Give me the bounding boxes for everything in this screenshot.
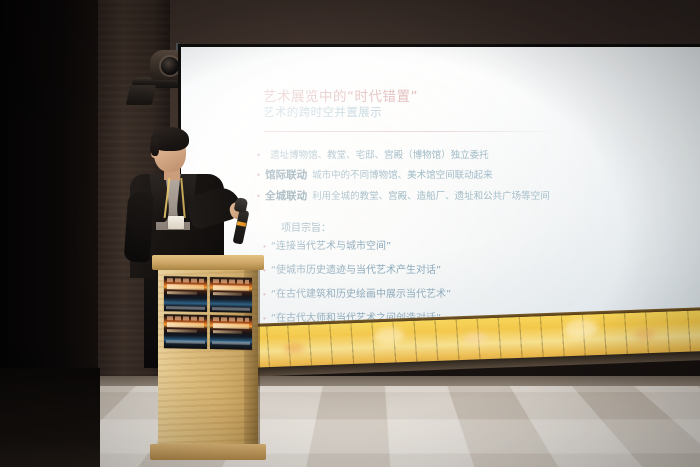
poster-title-line [167, 322, 204, 328]
list-item: • 馆际联动 城市中的不同博物馆、美术馆空间联动起来 [257, 167, 687, 182]
poster-subtitle-line [213, 330, 243, 334]
dark-left-void [0, 0, 100, 380]
poster-header-line [167, 316, 204, 321]
bullet-text-2: 利用全城的教堂、宫殿、造船厂、遗址和公共广场等空间 [312, 188, 550, 202]
speaker-arm-left [124, 191, 155, 263]
poster-title-line [213, 323, 250, 329]
list-item: • “连接当代艺术与城市空间” [263, 237, 683, 252]
bullet-dot-icon: • [263, 315, 266, 323]
bullet-dot-icon: • [263, 243, 266, 251]
title-divider [264, 131, 564, 132]
poster-header-line [213, 279, 250, 284]
purpose-text-2: “在古代建筑和历史绘画中展示当代艺术” [271, 285, 451, 300]
poster-title-line [213, 285, 250, 291]
slide-bullet-list: • 遗址博物馆、教堂、宅邸、宫殿（博物馆）独立委托 • 馆际联动 城市中的不同博… [257, 147, 687, 209]
speaker-hair-side [150, 138, 159, 156]
purpose-heading: 项目宗旨： [281, 219, 331, 234]
event-poster [164, 314, 207, 349]
podium-poster-grid [164, 276, 252, 350]
list-item: • 全城联动 利用全城的教堂、宫殿、造船厂、遗址和公共广场等空间 [257, 188, 687, 203]
list-item: • “使城市历史遗迹与当代艺术产生对话” [263, 261, 683, 276]
poster-divider [166, 306, 205, 310]
poster-header-line [213, 317, 250, 322]
poster-subtitle-line [167, 291, 197, 295]
speaker-figure [122, 118, 258, 278]
speaker-name-badge [168, 216, 184, 229]
bullet-dot-icon: • [263, 291, 266, 299]
poster-divider [212, 307, 251, 311]
podium-top-surface [152, 255, 264, 270]
presentation-scene: 艺术展览中的“时代错置” 艺术的跨时空并置展示 • 遗址博物馆、教堂、宅邸、宫殿… [0, 0, 700, 467]
slide-title: 艺术展览中的“时代错置” [263, 85, 418, 105]
stage-step-edge [0, 376, 700, 386]
poster-divider [212, 341, 251, 345]
list-item: • 遗址博物馆、教堂、宅邸、宫殿（博物馆）独立委托 [257, 147, 687, 161]
poster-header-line [167, 278, 204, 283]
bullet-strong-1: 馆际联动 [265, 167, 307, 182]
purpose-text-0: “连接当代艺术与城市空间” [271, 237, 391, 252]
list-item: • “在古代建筑和历史绘画中展示当代艺术” [263, 285, 683, 300]
event-poster [210, 315, 253, 350]
carpet-floor [0, 376, 700, 467]
bullet-strong-2: 全城联动 [265, 188, 307, 203]
bullet-text-0: 遗址博物馆、教堂、宅邸、宫殿（博物馆）独立委托 [270, 147, 489, 161]
event-poster [164, 276, 207, 311]
carpet-tile-pattern [0, 376, 700, 467]
podium [156, 255, 260, 467]
slide-subtitle: 艺术的跨时空并置展示 [263, 104, 382, 120]
poster-subtitle-line [213, 292, 243, 296]
poster-subtitle-line [167, 329, 197, 333]
poster-title-line [167, 284, 204, 290]
dark-floor-left [0, 368, 100, 467]
bullet-text-1: 城市中的不同博物馆、美术馆空间联动起来 [312, 167, 493, 181]
poster-divider [166, 340, 205, 344]
event-poster [210, 277, 253, 312]
podium-base [150, 444, 266, 460]
camera-mount-bracket [126, 85, 156, 105]
camera-lens-icon [161, 57, 179, 75]
purpose-text-1: “使城市历史遗迹与当代艺术产生对话” [271, 261, 441, 276]
